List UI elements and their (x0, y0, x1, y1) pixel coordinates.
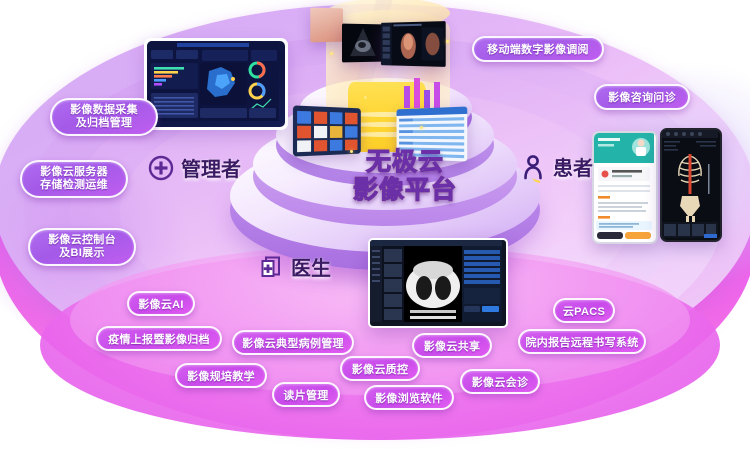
pill-viewer-software[interactable]: 影像浏览软件 (364, 385, 454, 410)
endoscopy-screen (310, 8, 343, 43)
pill-line: 影像云质控 (352, 361, 409, 377)
role-doctor[interactable]: 医生 (258, 252, 331, 281)
sparkle (446, 40, 449, 43)
pill-line: 影像云共享 (424, 338, 481, 354)
ct-viewer-screen[interactable] (368, 238, 508, 328)
pill-line: 影像数据采集 (70, 104, 138, 117)
pill-line: 存储检测运维 (40, 179, 108, 192)
patient-consult-phone[interactable] (592, 131, 658, 244)
pill-training[interactable]: 影像规培教学 (175, 363, 267, 388)
pill-quality-control[interactable]: 影像云质控 (340, 356, 420, 381)
pill-line: 院内报告远程书写系统 (526, 334, 639, 350)
pill-line: 读片管理 (283, 387, 328, 403)
pill-line: 移动端数字影像调阅 (487, 41, 589, 57)
pill-line: 及归档管理 (76, 117, 133, 130)
pill-line: 疫情上报暨影像归档 (108, 331, 210, 347)
skeleton-3d-phone[interactable] (660, 128, 722, 242)
page-title: 无极云 影像平台 (330, 148, 480, 204)
bar-chart-screen (396, 70, 454, 110)
pill-cloud-server[interactable]: 影像云服务器 存储检测运维 (20, 160, 128, 198)
pill-case-management[interactable]: 影像云典型病例管理 (232, 330, 354, 355)
pill-line: 影像规培教学 (187, 368, 255, 384)
role-doctor-label: 医生 (291, 252, 331, 281)
ultrasound-screen (342, 24, 383, 63)
pill-line: 影像咨询问诊 (608, 89, 676, 105)
role-patient[interactable]: 患者 (520, 152, 593, 181)
title-line-2: 影像平台 (330, 176, 480, 204)
pill-line: 及BI展示 (59, 247, 105, 260)
pill-line: 影像云典型病例管理 (242, 335, 344, 351)
pill-data-collection[interactable]: 影像数据采集 及归档管理 (50, 98, 158, 136)
pill-line: 影像云AI (138, 296, 184, 312)
circle-plus-icon (148, 155, 174, 181)
role-manager[interactable]: 管理者 (148, 153, 241, 182)
document-plus-icon (258, 254, 284, 280)
title-line-1: 无极云 (330, 148, 480, 176)
pill-remote-report[interactable]: 院内报告远程书写系统 (518, 329, 646, 354)
pill-line: 云PACS (563, 303, 605, 319)
pill-cloud-ai[interactable]: 影像云AI (127, 291, 195, 316)
pill-cloud-consult[interactable]: 影像云会诊 (460, 369, 540, 394)
pill-line: 影像浏览软件 (375, 390, 443, 406)
pill-film-reading[interactable]: 读片管理 (272, 382, 340, 407)
pill-console-bi[interactable]: 影像云控制台 及BI展示 (28, 228, 136, 266)
pill-mobile-imaging[interactable]: 移动端数字影像调阅 (472, 36, 604, 62)
pill-consultation[interactable]: 影像咨询问诊 (594, 84, 690, 110)
pill-epidemic-report[interactable]: 疫情上报暨影像归档 (96, 326, 222, 351)
pill-line: 影像云服务器 (40, 166, 108, 179)
bi-dashboard-screen[interactable] (144, 38, 288, 130)
infographic-canvas: 无极云 影像平台 管理者 患者 医生 影像数据采集 及归档管理 (0, 0, 750, 450)
role-manager-label: 管理者 (181, 153, 241, 182)
sparkle (364, 96, 367, 99)
role-patient-label: 患者 (553, 152, 593, 181)
person-icon (520, 154, 546, 180)
pill-line: 影像云会诊 (472, 374, 529, 390)
sparkle (420, 126, 423, 129)
pill-cloud-pacs[interactable]: 云PACS (553, 298, 615, 323)
mri-viewer-screen (381, 21, 446, 67)
pill-cloud-sharing[interactable]: 影像云共享 (412, 333, 492, 358)
sparkle (330, 52, 333, 55)
pill-line: 影像云控制台 (48, 234, 116, 247)
